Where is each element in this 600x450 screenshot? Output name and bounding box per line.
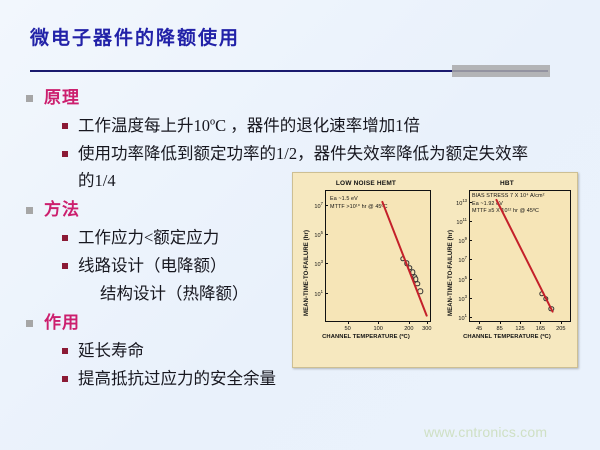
chart-x-tick-label: 85: [496, 326, 502, 332]
chart-x-tick-mark: [479, 321, 480, 324]
outline-item-level2: 提高抵抗过应力的安全余量: [62, 365, 586, 392]
chart-annotations: BIAS STRESS 7 X 10⁴ A/cm² Ea ~1.92 eV MT…: [472, 193, 545, 216]
chart-y-tick-label: 105: [314, 230, 323, 239]
chart-x-tick-label: 45: [476, 326, 482, 332]
chart-y-tick-mark: [325, 263, 328, 264]
chart-plot-area: BIAS STRESS 7 X 10⁴ A/cm² Ea ~1.92 eV MT…: [439, 190, 575, 348]
outline-label: 原理: [44, 85, 80, 111]
chart-x-tick-mark: [427, 321, 428, 324]
chart-x-tick-mark: [500, 321, 501, 324]
chart-x-axis-label: CHANNEL TEMPERATURE (ºC): [439, 334, 575, 340]
chart-y-tick-label: 1011: [456, 217, 467, 226]
chart-y-tick-label: 109: [458, 236, 467, 245]
chart-x-tick-label: 200: [404, 326, 413, 332]
chart-x-axis-label: CHANNEL TEMPERATURE (ºC): [297, 334, 435, 340]
gray-square-bullet-icon: [26, 207, 33, 214]
dark-red-square-bullet-icon: [62, 376, 68, 382]
outline-label: 作用: [44, 310, 80, 336]
chart-x-tick-label: 100: [374, 326, 383, 332]
chart-x-tick-mark: [520, 321, 521, 324]
annotation-line: BIAS STRESS 7 X 10⁴ A/cm²: [472, 193, 545, 201]
chart-x-ticks: 4585125165205: [439, 324, 575, 333]
chart-y-tick-label: 107: [458, 255, 467, 264]
chart-y-tick-label: 101: [458, 313, 467, 322]
outline-label: 工作应力<额定应力: [78, 224, 219, 251]
chart-y-tick-mark: [469, 298, 472, 299]
gray-square-bullet-icon: [26, 95, 33, 102]
outline-label: 线路设计（电降额）: [78, 252, 227, 279]
chart-x-tick-label: 205: [556, 326, 565, 332]
chart-x-tick-mark: [540, 321, 541, 324]
chart-y-tick-mark: [469, 221, 472, 222]
chart-annotations: Ea ~1.5 eV MTTF >10¹⁰ hr @ 45ºC: [330, 196, 388, 211]
outline-label: 提高抵抗过应力的安全余量: [78, 365, 276, 392]
site-watermark: www.cntronics.com: [424, 424, 547, 440]
outline-label: 方法: [44, 197, 80, 223]
outline-item-level2: 工作温度每上升10ºC ，器件的退化速率增加1倍: [62, 112, 586, 139]
dark-red-square-bullet-icon: [62, 123, 68, 129]
chart-x-tick-mark: [409, 321, 410, 324]
annotation-line: MTTF >10¹⁰ hr @ 45ºC: [330, 204, 388, 212]
chart-y-tick-mark: [325, 293, 328, 294]
page-title: 微电子器件的降额使用: [30, 26, 570, 50]
chart-y-tick-label: 103: [314, 259, 323, 268]
chart-y-tick-mark: [469, 202, 472, 203]
outline-label: 结构设计（热降额）: [78, 280, 249, 307]
chart-x-tick-mark: [348, 321, 349, 324]
chart-y-tick-mark: [469, 317, 472, 318]
dark-red-square-bullet-icon: [62, 235, 68, 241]
dark-red-square-bullet-icon: [62, 348, 68, 354]
no-bullet-spacer: [62, 291, 68, 297]
chart-y-tick-label: 103: [458, 294, 467, 303]
dark-red-square-bullet-icon: [62, 263, 68, 269]
reliability-figure: LOW NOISE HEMT Ea ~1.5 eV MTTF >10¹⁰ hr …: [292, 172, 578, 368]
chart-y-tick-mark: [469, 259, 472, 260]
outline-item-level1: 原理: [26, 85, 586, 111]
chart-title: LOW NOISE HEMT: [297, 179, 435, 189]
chart-x-tick-mark: [561, 321, 562, 324]
chart-x-tick-label: 50: [344, 326, 350, 332]
chart-y-tick-label: 107: [314, 201, 323, 210]
outline-label: 延长寿命: [78, 337, 144, 364]
chart-y-tick-label: 105: [458, 275, 467, 284]
chart-x-ticks: 50100200300: [297, 324, 435, 333]
chart-y-axis-label: MEAN-TIME-TO-FAILURE (hr): [448, 230, 454, 316]
annotation-line: Ea ~1.5 eV: [330, 196, 388, 204]
chart-low-noise-hemt: LOW NOISE HEMT Ea ~1.5 eV MTTF >10¹⁰ hr …: [297, 179, 435, 363]
dark-red-square-bullet-icon: [62, 151, 68, 157]
chart-y-tick-label: 1013: [456, 198, 467, 207]
chart-y-axis-label: MEAN-TIME-TO-FAILURE (hr): [304, 230, 310, 316]
gray-square-bullet-icon: [26, 320, 33, 327]
chart-x-tick-label: 300: [422, 326, 431, 332]
annotation-line: MTTF ≥5 X 10¹² hr @ 45ºC: [472, 208, 545, 216]
chart-x-tick-mark: [378, 321, 379, 324]
chart-plot-area: Ea ~1.5 eV MTTF >10¹⁰ hr @ 45ºC MEAN-TIM…: [297, 190, 435, 348]
outline-label: 工作温度每上升10ºC ，器件的退化速率增加1倍: [78, 112, 420, 139]
title-decoration-bar: [452, 65, 550, 77]
chart-y-tick-mark: [325, 205, 328, 206]
chart-y-tick-mark: [469, 279, 472, 280]
chart-hbt: HBT BIAS STRESS 7 X 10⁴ A/cm² Ea ~1.92 e…: [439, 179, 575, 363]
title-block: 微电子器件的降额使用: [30, 26, 570, 50]
chart-x-tick-label: 165: [536, 326, 545, 332]
slide-canvas: 微电子器件的降额使用 原理 工作温度每上升10ºC ，器件的退化速率增加1倍 使…: [0, 0, 600, 450]
chart-y-tick-mark: [469, 240, 472, 241]
chart-y-tick-mark: [325, 234, 328, 235]
chart-x-tick-label: 125: [515, 326, 524, 332]
chart-title: HBT: [439, 179, 575, 189]
annotation-line: Ea ~1.92 eV: [472, 201, 545, 209]
chart-y-tick-label: 101: [314, 289, 323, 298]
